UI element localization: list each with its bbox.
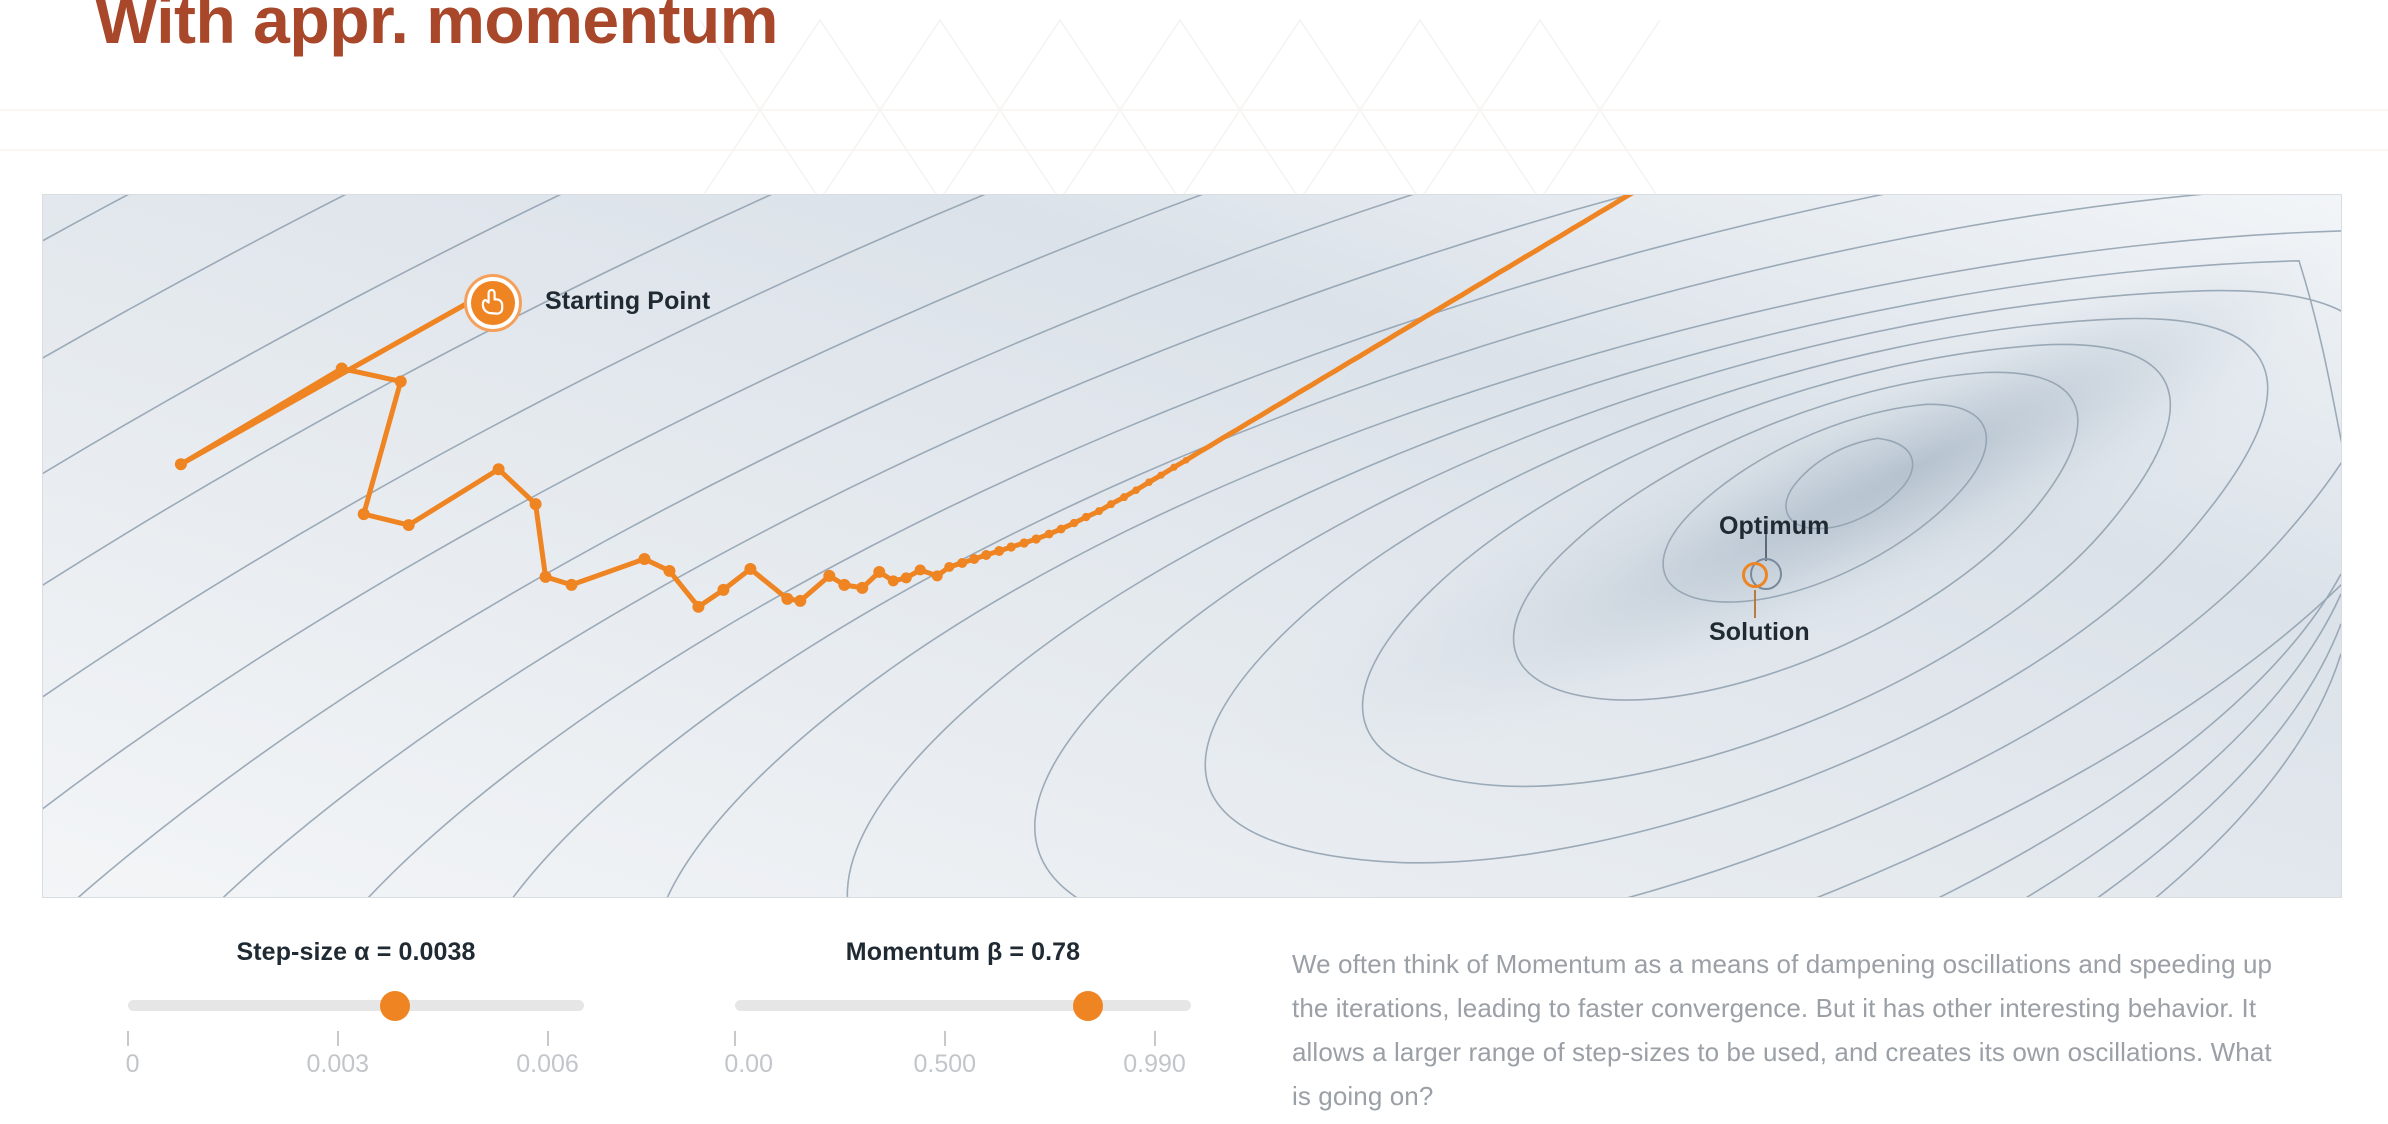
contour-plot-panel[interactable]	[42, 194, 2342, 898]
step-size-tick-2	[547, 1031, 549, 1046]
momentum-label: Momentum β = 0.78	[735, 938, 1191, 967]
momentum-tick-1	[944, 1031, 946, 1046]
momentum-track[interactable]	[735, 1000, 1191, 1011]
step-size-tick-0	[127, 1031, 129, 1046]
pointing-hand-icon	[471, 280, 515, 324]
step-size-tick-1	[337, 1031, 339, 1046]
step-size-tick-label-1: 0.003	[306, 1050, 369, 1079]
solution-marker	[1742, 562, 1768, 588]
momentum-tick-label-0: 0.00	[724, 1050, 773, 1079]
step-size-tick-label-2: 0.006	[516, 1050, 579, 1079]
momentum-thumb[interactable]	[1073, 991, 1103, 1021]
start-leader-line	[43, 195, 2341, 897]
starting-point-marker[interactable]	[464, 274, 522, 332]
starting-point-label: Starting Point	[545, 287, 710, 316]
description-text: We often think of Momentum as a means of…	[1292, 942, 2297, 1118]
optimum-label: Optimum	[1719, 512, 1829, 541]
step-size-label: Step-size α = 0.0038	[128, 938, 584, 967]
momentum-tick-label-2: 0.990	[1123, 1050, 1186, 1079]
step-size-track[interactable]	[128, 1000, 584, 1011]
step-size-tick-label-0: 0	[126, 1050, 140, 1079]
solution-leader-line	[1754, 590, 1756, 618]
solution-label: Solution	[1709, 618, 1810, 647]
momentum-tick-0	[734, 1031, 736, 1046]
momentum-tick-label-1: 0.500	[913, 1050, 976, 1079]
momentum-tick-2	[1154, 1031, 1156, 1046]
page-title: With appr. momentum	[95, 0, 778, 57]
step-size-thumb[interactable]	[380, 991, 410, 1021]
